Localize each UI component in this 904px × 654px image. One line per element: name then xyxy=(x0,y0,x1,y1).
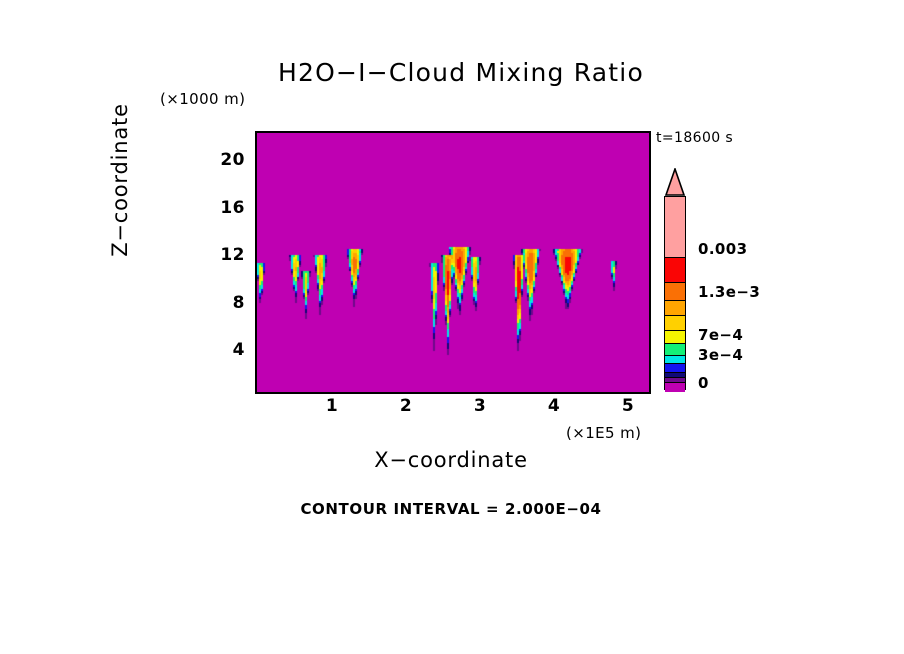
colorbar-band xyxy=(665,257,685,283)
page-title-text: H2O−I−Cloud Mixing Ratio xyxy=(278,58,644,87)
colorbar-tick-label: 3e−4 xyxy=(698,346,743,364)
colorbar-tick-label: 1.3e−3 xyxy=(698,283,760,301)
y-tick-label: 4 xyxy=(205,340,245,360)
colorbar-overflow-arrow xyxy=(664,168,686,196)
y-tick-label: 16 xyxy=(205,198,245,218)
colorbar-band xyxy=(665,315,685,331)
contour-plot-area xyxy=(255,131,651,394)
page-title: H2O−I−Cloud Mixing Ratio xyxy=(0,58,904,87)
x-axis-units-label: (×1E5 m) xyxy=(566,424,641,442)
x-tick-label: 5 xyxy=(613,396,643,416)
colorbar xyxy=(664,196,686,390)
colorbar-tick-label: 0.003 xyxy=(698,240,747,258)
y-axis-title: Z−coordinate xyxy=(108,40,132,320)
x-tick-label: 4 xyxy=(539,396,569,416)
contour-field-canvas xyxy=(257,133,649,392)
colorbar-band xyxy=(665,382,685,392)
colorbar-tick-label: 0 xyxy=(698,374,709,392)
x-tick-label: 3 xyxy=(465,396,495,416)
x-tick-label: 2 xyxy=(391,396,421,416)
x-tick-label: 1 xyxy=(317,396,347,416)
colorbar-tick-label: 7e−4 xyxy=(698,326,743,344)
colorbar-band xyxy=(665,197,685,257)
colorbar-band xyxy=(665,282,685,300)
x-axis-title: X−coordinate xyxy=(255,448,647,472)
z-axis-units-label: (×1000 m) xyxy=(160,90,245,108)
y-tick-label: 20 xyxy=(205,150,245,170)
y-tick-label: 8 xyxy=(205,293,245,313)
time-label: t=18600 s xyxy=(656,130,733,146)
y-tick-label: 12 xyxy=(205,245,245,265)
contour-interval-note: CONTOUR INTERVAL = 2.000E−04 xyxy=(175,500,727,518)
colorbar-band xyxy=(665,300,685,317)
colorbar-band xyxy=(665,330,685,345)
